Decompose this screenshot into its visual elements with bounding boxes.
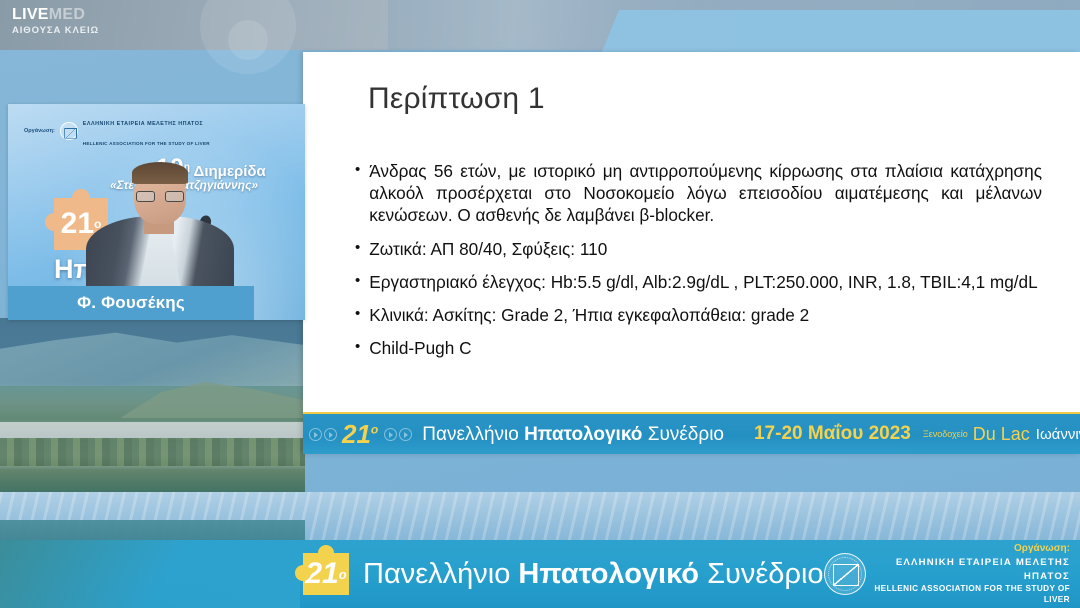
page-footer-badge-degree: ο — [339, 567, 347, 582]
slide-footer-dates: 17-20 Μαΐου 2023 — [754, 423, 911, 445]
bullet-marker: • — [355, 160, 360, 180]
organizer-name-greek: ΕΛΛΗΝΙΚΗ ΕΤΑΙΡΕΙΑ ΜΕΛΕΤΗΣ ΗΠΑΤΟΣ — [874, 556, 1070, 583]
page-footer-title-bold: Ηπατολογικό — [518, 558, 699, 590]
bullet-marker: • — [355, 337, 360, 357]
list-item: • Child-Pugh C — [355, 337, 1042, 359]
society-seal-icon — [824, 553, 866, 595]
slide-footer-title-bold: Ηπατολογικό — [524, 424, 642, 445]
logo-live-text: LIVE — [12, 6, 49, 23]
bullet-text: Άνδρας 56 ετών, με ιστορικό μη αντιρροπο… — [369, 160, 1042, 227]
backdrop-organizer-label: Οργάνωση: — [24, 128, 55, 134]
slide-footer-title: Πανελλήνιο Ηπατολογικό Συνέδριο — [422, 425, 724, 444]
page-footer-title-part2: Συνέδριο — [699, 558, 823, 590]
treeline — [0, 438, 305, 466]
backdrop-organizer-names: ΕΛΛΗΝΙΚΗ ΕΤΑΙΡΕΙΑ ΜΕΛΕΤΗΣ ΗΠΑΤΟΣ HELLENI… — [83, 111, 210, 151]
page-footer-title-part1: Πανελλήνιο — [363, 558, 518, 590]
backdrop-organizer-row: Οργάνωση: ΕΛΛΗΝΙΚΗ ΕΤΑΙΡΕΙΑ ΜΕΛΕΤΗΣ ΗΠΑΤ… — [24, 111, 299, 151]
bullet-text: Ζωτικά: ΑΠ 80/40, Σφύξεις: 110 — [369, 238, 1042, 260]
bullet-text: Κλινικά: Ασκίτης: Grade 2, Ήπια εγκεφαλο… — [369, 304, 1042, 326]
bullet-marker: • — [355, 238, 360, 258]
slide-footer-badge-number: 21 — [342, 419, 371, 449]
page-footer: 21ο Πανελλήνιο Ηπατολογικό Συνέδριο Οργά… — [0, 540, 1080, 608]
play-icon-2 — [324, 428, 337, 441]
backdrop-society-seal-icon — [60, 122, 78, 140]
room-label: ΑΙΘΟΥΣΑ ΚΛΕΙΩ — [12, 26, 99, 36]
organizer-name-english: HELLENIC ASSOCIATION FOR THE STUDY OF LI… — [874, 583, 1070, 606]
organizer-text-block: Οργάνωση: ΕΛΛΗΝΙΚΗ ΕΤΑΙΡΕΙΑ ΜΕΛΕΤΗΣ ΗΠΑΤ… — [874, 542, 1070, 606]
webcast-stage: LIVEMED ΑΙΘΟΥΣΑ ΚΛΕΙΩ Οργάνωση: ΕΛΛΗΝΙΚΗ… — [0, 0, 1080, 608]
presenter-glasses — [136, 191, 184, 202]
livemed-logo: LIVEMED ΑΙΘΟΥΣΑ ΚΛΕΙΩ — [12, 7, 99, 36]
background-diagonal-accent — [601, 10, 1080, 54]
bullet-text: Child-Pugh C — [369, 337, 1042, 359]
speaker-name: Φ. Φουσέκης — [77, 293, 185, 313]
slide-footer-title-part1: Πανελλήνιο — [422, 424, 524, 445]
backdrop-org-line-2: HELLENIC ASSOCIATION FOR THE STUDY OF LI… — [83, 141, 210, 146]
seal-inner-mark — [833, 564, 859, 586]
speaker-nameplate: Φ. Φουσέκης — [8, 286, 254, 320]
bullet-marker: • — [355, 304, 360, 324]
slide-body: • Άνδρας 56 ετών, με ιστορικό μη αντιρρο… — [355, 160, 1042, 370]
play-icon-3 — [384, 428, 397, 441]
list-item: • Ζωτικά: ΑΠ 80/40, Σφύξεις: 110 — [355, 238, 1042, 260]
organizer-label: Οργάνωση: — [874, 542, 1070, 556]
list-item: • Κλινικά: Ασκίτης: Grade 2, Ήπια εγκεφα… — [355, 304, 1042, 326]
slide-footer-badge-degree: ο — [371, 422, 378, 436]
presentation-slide[interactable]: Περίπτωση 1 • Άνδρας 56 ετών, με ιστορικ… — [303, 52, 1080, 454]
slide-footer-venue-name: Du Lac — [973, 424, 1030, 445]
slide-footer-title-part2: Συνέδριο — [642, 424, 724, 445]
page-footer-badge-number: 21 — [305, 557, 338, 591]
bullet-text: Εργαστηριακό έλεγχος: Hb:5.5 g/dl, Alb:2… — [369, 271, 1042, 293]
list-item: • Άνδρας 56 ετών, με ιστορικό μη αντιρρο… — [355, 160, 1042, 227]
puzzle-watermark-secondary-icon — [228, 20, 268, 60]
list-item: • Εργαστηριακό έλεγχος: Hb:5.5 g/dl, Alb… — [355, 271, 1042, 293]
play-icon-4 — [399, 428, 412, 441]
background-top-bar — [0, 0, 1080, 50]
slide-footer-banner: 21ο Πανελλήνιο Ηπατολογικό Συνέδριο 17-2… — [303, 412, 1080, 454]
page-footer-title: Πανελλήνιο Ηπατολογικό Συνέδριο — [363, 560, 824, 589]
mountain-ridge — [0, 324, 305, 386]
backdrop-org-line-1: ΕΛΛΗΝΙΚΗ ΕΤΑΙΡΕΙΑ ΜΕΛΕΤΗΣ ΗΠΑΤΟΣ — [83, 121, 203, 127]
bullet-marker: • — [355, 271, 360, 291]
slide-footer-venue-label: Ξενοδοχείο — [923, 429, 968, 439]
slide-footer-badge: 21ο — [342, 421, 378, 447]
page-footer-puzzle-badge: 21ο — [303, 553, 349, 595]
slide-footer-city: Ιωάννινα — [1036, 426, 1080, 443]
presenter-hair — [132, 162, 188, 184]
media-control-icons-2 — [384, 428, 412, 441]
page-footer-organizer: Οργάνωση: ΕΛΛΗΝΙΚΗ ΕΤΑΙΡΕΙΑ ΜΕΛΕΤΗΣ ΗΠΑΤ… — [824, 542, 1070, 606]
logo-med-text: MED — [49, 6, 85, 23]
media-control-icons — [309, 428, 337, 441]
slide-title: Περίπτωση 1 — [368, 82, 545, 116]
play-icon-1 — [309, 428, 322, 441]
